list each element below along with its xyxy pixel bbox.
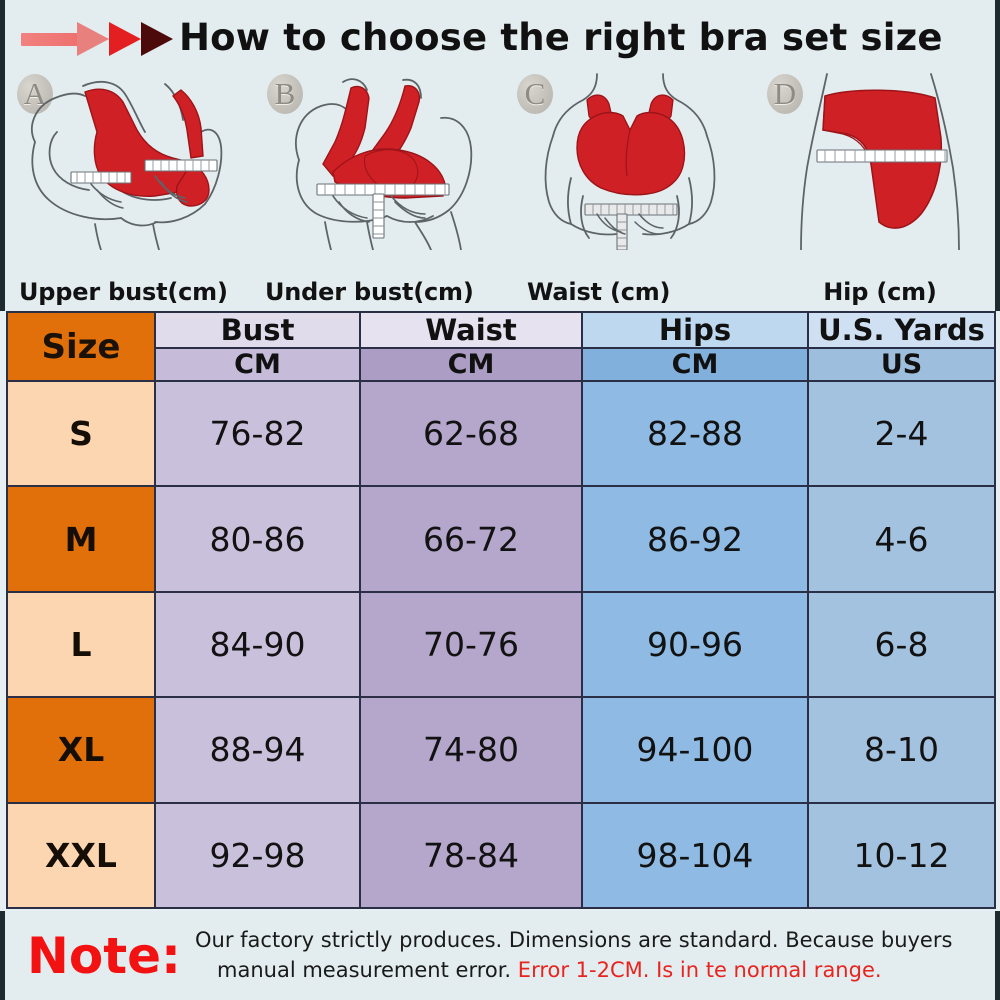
- table-row: XL 88-94 74-80 94-100 8-10: [7, 697, 995, 802]
- note-label: Note:: [27, 931, 181, 981]
- unit-hips: CM: [582, 348, 808, 381]
- woman-measuring-hip-icon: [755, 72, 1000, 250]
- cell-hips: 90-96: [582, 592, 808, 697]
- unit-us: US: [808, 348, 995, 381]
- cell-size: L: [7, 592, 155, 697]
- panel-label-hip: Hip (cm): [755, 278, 1000, 306]
- cell-us: 2-4: [808, 381, 995, 486]
- note-body: Our factory strictly produces. Dimension…: [195, 926, 995, 986]
- cell-waist: 70-76: [360, 592, 582, 697]
- unit-bust: CM: [155, 348, 360, 381]
- table-header-row-names: Size Bust Waist Hips U.S. Yards: [7, 312, 995, 348]
- table-row: L 84-90 70-76 90-96 6-8: [7, 592, 995, 697]
- cell-size: XXL: [7, 803, 155, 908]
- cell-bust: 88-94: [155, 697, 360, 802]
- measurement-panels: A: [5, 68, 1000, 308]
- note-section: Note: Our factory strictly produces. Dim…: [0, 911, 1000, 1000]
- header-hips: Hips: [582, 312, 808, 348]
- cell-us: 8-10: [808, 697, 995, 802]
- panel-label-under-bust: Under bust(cm): [255, 278, 515, 306]
- cell-us: 6-8: [808, 592, 995, 697]
- measurement-panel-under-bust: B: [255, 68, 505, 308]
- cell-waist: 74-80: [360, 697, 582, 802]
- cell-size: S: [7, 381, 155, 486]
- size-chart-page: How to choose the right bra set size A: [0, 0, 1000, 1000]
- cell-size: XL: [7, 697, 155, 802]
- cell-waist: 66-72: [360, 486, 582, 591]
- measurement-panel-hip: D: [755, 68, 1000, 308]
- woman-measuring-waist-icon: [505, 72, 755, 250]
- measurement-panel-upper-bust: A: [5, 68, 255, 308]
- cell-waist: 78-84: [360, 803, 582, 908]
- page-title: How to choose the right bra set size: [179, 16, 943, 59]
- header-bust: Bust: [155, 312, 360, 348]
- cell-bust: 76-82: [155, 381, 360, 486]
- header-size: Size: [7, 312, 155, 381]
- note-line-2: manual measurement error. Error 1-2CM. I…: [195, 956, 983, 986]
- cell-hips: 98-104: [582, 803, 808, 908]
- triple-chevron-arrow-right-icon: [19, 11, 179, 63]
- diagram-section: How to choose the right bra set size A: [0, 0, 1000, 311]
- measurement-panel-waist: C: [505, 68, 755, 308]
- cell-waist: 62-68: [360, 381, 582, 486]
- cell-hips: 86-92: [582, 486, 808, 591]
- cell-us: 4-6: [808, 486, 995, 591]
- cell-bust: 80-86: [155, 486, 360, 591]
- cell-us: 10-12: [808, 803, 995, 908]
- table-row: M 80-86 66-72 86-92 4-6: [7, 486, 995, 591]
- note-line-1: Our factory strictly produces. Dimension…: [195, 926, 983, 956]
- panel-label-waist: Waist (cm): [505, 278, 777, 306]
- title-row: How to choose the right bra set size: [5, 2, 1000, 72]
- cell-bust: 84-90: [155, 592, 360, 697]
- header-waist: Waist: [360, 312, 582, 348]
- cell-size: M: [7, 486, 155, 591]
- woman-measuring-upper-bust-icon: [5, 72, 255, 250]
- cell-hips: 94-100: [582, 697, 808, 802]
- table-header-row-units: CM CM CM US: [7, 348, 995, 381]
- note-line-2-black: manual measurement error.: [217, 958, 518, 982]
- table-row: S 76-82 62-68 82-88 2-4: [7, 381, 995, 486]
- table-row: XXL 92-98 78-84 98-104 10-12: [7, 803, 995, 908]
- cell-hips: 82-88: [582, 381, 808, 486]
- header-us-yards: U.S. Yards: [808, 312, 995, 348]
- panel-label-upper-bust: Upper bust(cm): [5, 278, 269, 306]
- size-chart-table: Size Bust Waist Hips U.S. Yards CM CM CM…: [6, 311, 996, 909]
- cell-bust: 92-98: [155, 803, 360, 908]
- note-line-2-red: Error 1-2CM. Is in te normal range.: [518, 958, 882, 982]
- unit-waist: CM: [360, 348, 582, 381]
- woman-measuring-under-bust-icon: [255, 72, 505, 250]
- size-table-section: Size Bust Waist Hips U.S. Yards CM CM CM…: [0, 311, 1000, 911]
